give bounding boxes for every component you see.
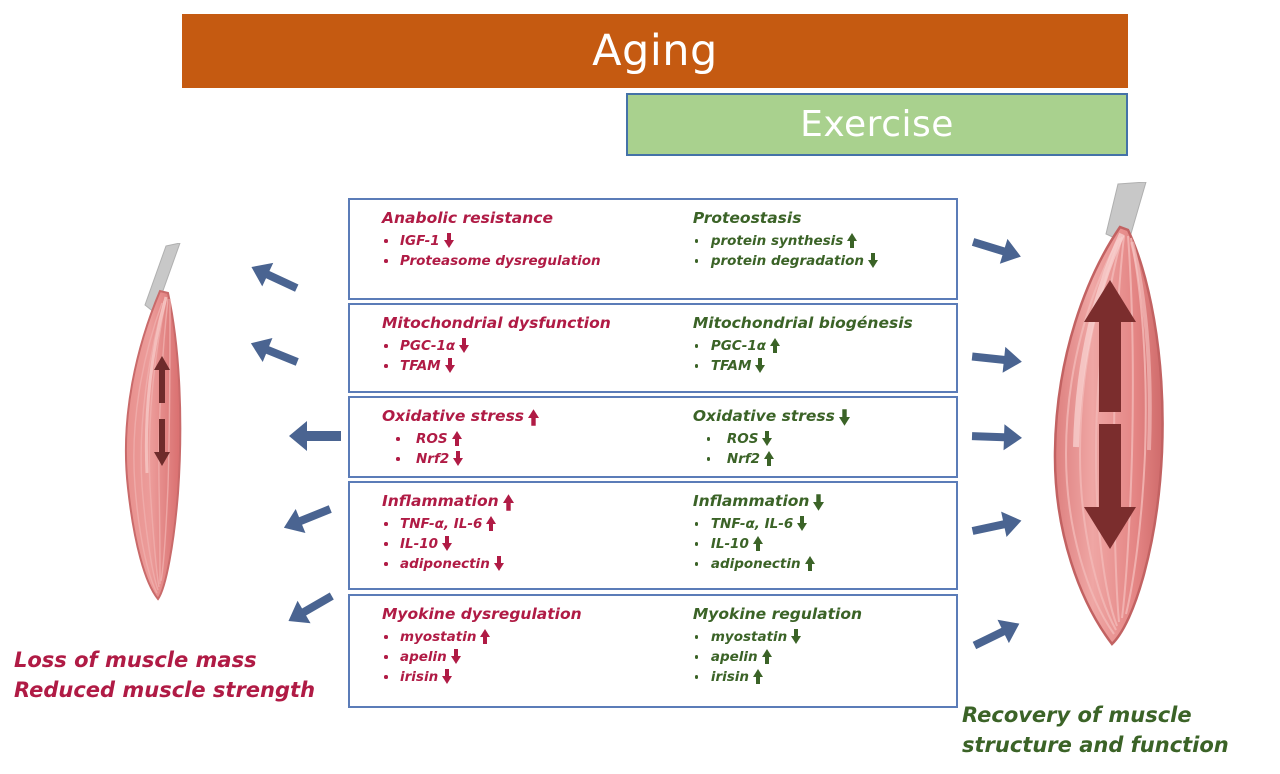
arrow-up-icon	[847, 233, 857, 248]
panel-4-exercise-title: Myokine regulation	[693, 604, 956, 625]
panel-myokine: Myokine dysregulation myostatin apelin i…	[348, 594, 958, 708]
list-item: myostatin	[382, 627, 693, 647]
aging-outcome-line-1: Loss of muscle mass	[14, 645, 315, 675]
panel-4-aging-title: Myokine dysregulation	[382, 604, 693, 625]
panel-oxidative-stress: Oxidative stress ROS Nrf2 Oxidative stre…	[348, 396, 958, 478]
panel-1-exercise-column: Mitochondrial biogénesis PGC-1α TFAM	[693, 305, 956, 391]
arrow-up-icon	[764, 451, 774, 466]
diagram-canvas: Aging Exercise	[0, 0, 1280, 774]
flow-arrow-right-3	[968, 414, 1014, 454]
panel-4-aging-column: Myokine dysregulation myostatin apelin i…	[350, 596, 693, 706]
panel-4-aging-list: myostatin apelin irisin	[382, 627, 693, 687]
arrow-down-icon	[445, 358, 455, 373]
panel-1-aging-column: Mitochondrial dysfunction PGC-1α TFAM	[350, 305, 693, 391]
panel-0-exercise-list: protein synthesis protein degradation	[693, 231, 956, 271]
aging-banner-label: Aging	[592, 26, 718, 76]
list-item: TFAM	[693, 356, 956, 376]
arrow-down-icon	[459, 338, 469, 353]
panel-4-exercise-list: myostatin apelin irisin	[693, 627, 956, 687]
flow-arrow-left-4	[280, 495, 326, 535]
panel-2-aging-title: Oxidative stress	[382, 406, 693, 427]
panel-2-exercise-title: Oxidative stress	[693, 406, 956, 427]
panel-0-exercise-title: Proteostasis	[693, 208, 956, 229]
arrow-down-icon	[453, 451, 463, 466]
panel-0-aging-column: Anabolic resistance IGF-1 Proteasome dys…	[350, 200, 693, 298]
panel-0-aging-title: Anabolic resistance	[382, 208, 693, 229]
hypertrophied-muscle-illustration	[1000, 182, 1190, 682]
arrow-up-icon	[753, 536, 763, 551]
flow-arrow-left-1	[247, 255, 293, 295]
list-item: apelin	[382, 647, 693, 667]
panel-2-aging-list: ROS Nrf2	[382, 429, 693, 469]
list-item: irisin	[693, 667, 956, 687]
list-item: adiponectin	[382, 554, 693, 574]
arrow-up-icon	[486, 516, 496, 531]
list-item: TFAM	[382, 356, 693, 376]
panel-3-exercise-column: Inflammation TNF-α, IL-6 IL-10 adiponect…	[693, 483, 956, 588]
panel-2-exercise-list: ROS Nrf2	[693, 429, 956, 469]
panel-1-exercise-list: PGC-1α TFAM	[693, 336, 956, 376]
panel-3-exercise-title: Inflammation	[693, 491, 956, 512]
exercise-outcome-line-1: Recovery of muscle	[962, 700, 1229, 730]
list-item: myostatin	[693, 627, 956, 647]
list-item: IGF-1	[382, 231, 693, 251]
arrow-up-icon	[805, 556, 815, 571]
panel-1-aging-title: Mitochondrial dysfunction	[382, 313, 693, 334]
arrow-down-icon	[755, 358, 765, 373]
aging-outcome-caption: Loss of muscle mass Reduced muscle stren…	[14, 645, 315, 705]
list-item: protein synthesis	[693, 231, 956, 251]
flow-arrow-right-2	[968, 336, 1014, 376]
arrow-down-icon	[797, 516, 807, 531]
panel-3-aging-list: TNF-α, IL-6 IL-10 adiponectin	[382, 514, 693, 574]
list-item: irisin	[382, 667, 693, 687]
panel-inflammation: Inflammation TNF-α, IL-6 IL-10 adiponect…	[348, 481, 958, 590]
panel-1-exercise-title: Mitochondrial biogénesis	[693, 313, 956, 334]
list-item: Nrf2	[693, 449, 956, 469]
panel-3-aging-title: Inflammation	[382, 491, 693, 512]
panel-3-exercise-list: TNF-α, IL-6 IL-10 adiponectin	[693, 514, 956, 574]
panel-3-aging-column: Inflammation TNF-α, IL-6 IL-10 adiponect…	[350, 483, 693, 588]
list-item: IL-10	[693, 534, 956, 554]
arrow-up-icon	[480, 629, 490, 644]
flow-arrow-left-5	[283, 585, 329, 625]
panel-0-aging-list: IGF-1 Proteasome dysregulation	[382, 231, 693, 271]
panel-1-aging-list: PGC-1α TFAM	[382, 336, 693, 376]
list-item: protein degradation	[693, 251, 956, 271]
arrow-down-icon	[813, 494, 823, 509]
panel-anabolic-proteostasis: Anabolic resistance IGF-1 Proteasome dys…	[348, 198, 958, 300]
flow-arrow-right-1	[968, 226, 1014, 266]
panel-2-exercise-column: Oxidative stress ROS Nrf2	[693, 398, 956, 476]
atrophied-muscle-illustration	[100, 243, 230, 613]
panel-4-exercise-column: Myokine regulation myostatin apelin iris…	[693, 596, 956, 706]
arrow-up-icon	[770, 338, 780, 353]
list-item: adiponectin	[693, 554, 956, 574]
arrow-down-icon	[868, 253, 878, 268]
arrow-down-icon	[791, 629, 801, 644]
arrow-down-icon	[442, 669, 452, 684]
list-item: apelin	[693, 647, 956, 667]
arrow-down-icon	[494, 556, 504, 571]
exercise-banner: Exercise	[626, 93, 1128, 156]
list-item: TNF-α, IL-6	[693, 514, 956, 534]
list-item: ROS	[382, 429, 693, 449]
arrow-down-icon	[839, 409, 849, 424]
flow-arrow-right-4	[968, 503, 1014, 543]
aging-banner: Aging	[182, 14, 1128, 88]
arrow-up-icon	[528, 409, 538, 424]
flow-arrow-right-5	[968, 612, 1014, 652]
panel-mitochondria: Mitochondrial dysfunction PGC-1α TFAM Mi…	[348, 303, 958, 393]
exercise-outcome-caption: Recovery of muscle structure and functio…	[962, 700, 1229, 760]
arrow-down-icon	[444, 233, 454, 248]
arrow-up-icon	[452, 431, 462, 446]
arrow-down-icon	[451, 649, 461, 664]
arrow-up-icon	[753, 669, 763, 684]
list-item: IL-10	[382, 534, 693, 554]
list-item: PGC-1α	[693, 336, 956, 356]
list-item: PGC-1α	[382, 336, 693, 356]
list-item: Nrf2	[382, 449, 693, 469]
arrow-down-icon	[762, 431, 772, 446]
panel-0-exercise-column: Proteostasis protein synthesis protein d…	[693, 200, 956, 298]
arrow-up-icon	[503, 494, 513, 509]
exercise-banner-label: Exercise	[800, 104, 954, 145]
panel-2-aging-column: Oxidative stress ROS Nrf2	[350, 398, 693, 476]
aging-outcome-line-2: Reduced muscle strength	[14, 675, 315, 705]
list-item: TNF-α, IL-6	[382, 514, 693, 534]
list-item: ROS	[693, 429, 956, 449]
exercise-outcome-line-2: structure and function	[962, 730, 1229, 760]
arrow-down-icon	[442, 536, 452, 551]
list-item: Proteasome dysregulation	[382, 251, 693, 271]
flow-arrow-left-2	[247, 330, 293, 370]
flow-arrow-left-3	[287, 413, 333, 453]
arrow-up-icon	[762, 649, 772, 664]
